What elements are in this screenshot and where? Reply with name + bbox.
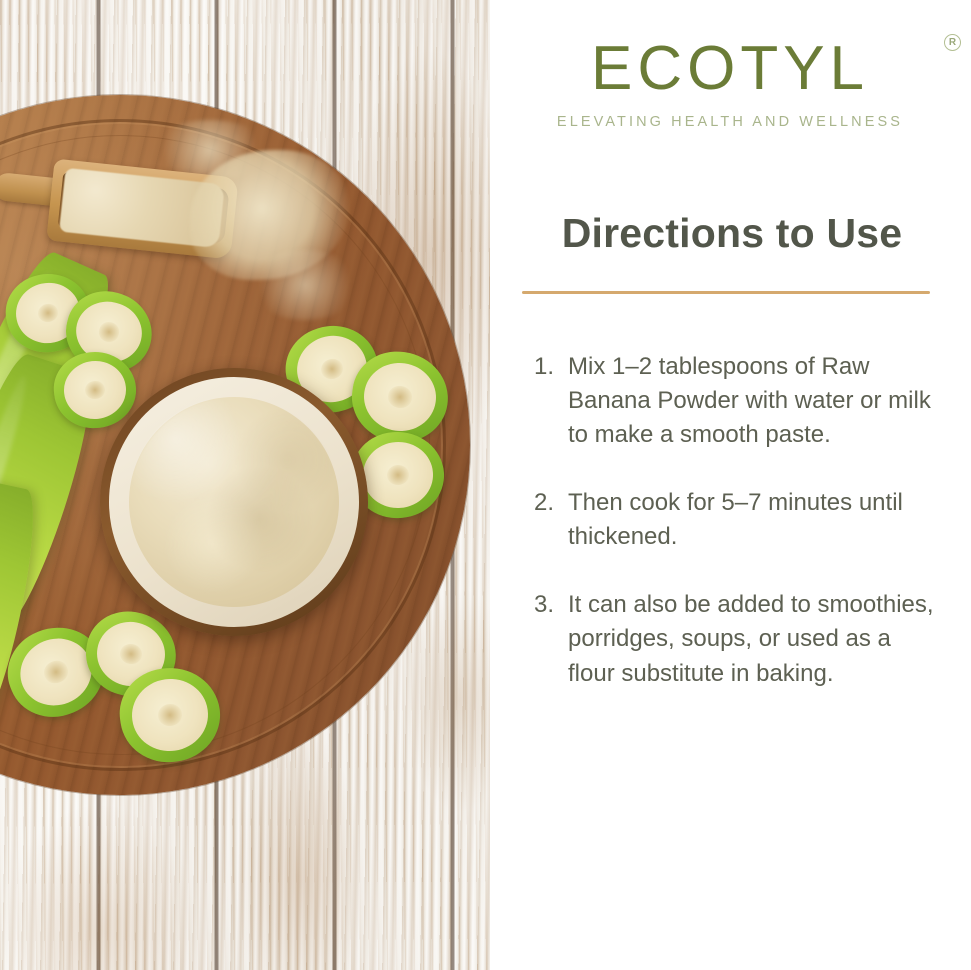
registered-trademark-icon: R <box>944 34 961 51</box>
title-divider <box>522 291 930 294</box>
infographic-canvas: ECOTYL R ELEVATING HEALTH AND WELLNESS D… <box>0 0 971 970</box>
banana-powder <box>129 397 339 607</box>
brand-tagline: ELEVATING HEALTH AND WELLNESS <box>525 114 935 130</box>
list-item-text: It can also be added to smoothies, porri… <box>568 588 934 690</box>
list-item-text: Mix 1–2 tablespoons of Raw Banana Powder… <box>568 350 934 452</box>
page-title: Directions to Use <box>522 210 942 257</box>
directions-list: 1. Mix 1–2 tablespoons of Raw Banana Pow… <box>534 350 934 691</box>
bowl-rim <box>109 377 359 627</box>
list-item: 1. Mix 1–2 tablespoons of Raw Banana Pow… <box>534 350 934 452</box>
list-item: 3. It can also be added to smoothies, po… <box>534 588 934 690</box>
list-item: 2. Then cook for 5–7 minutes until thick… <box>534 486 934 554</box>
list-item-text: Then cook for 5–7 minutes until thickene… <box>568 486 934 554</box>
product-photo <box>0 0 490 970</box>
powder-dust-lower <box>250 250 360 320</box>
list-item-number: 2. <box>534 486 568 554</box>
content-panel: ECOTYL R ELEVATING HEALTH AND WELLNESS D… <box>490 0 971 970</box>
powder-bowl <box>100 368 368 636</box>
list-item-number: 3. <box>534 588 568 690</box>
list-item-number: 1. <box>534 350 568 452</box>
brand-logo: ECOTYL R ELEVATING HEALTH AND WELLNESS <box>525 38 935 130</box>
brand-wordmark: ECOTYL <box>591 38 869 100</box>
